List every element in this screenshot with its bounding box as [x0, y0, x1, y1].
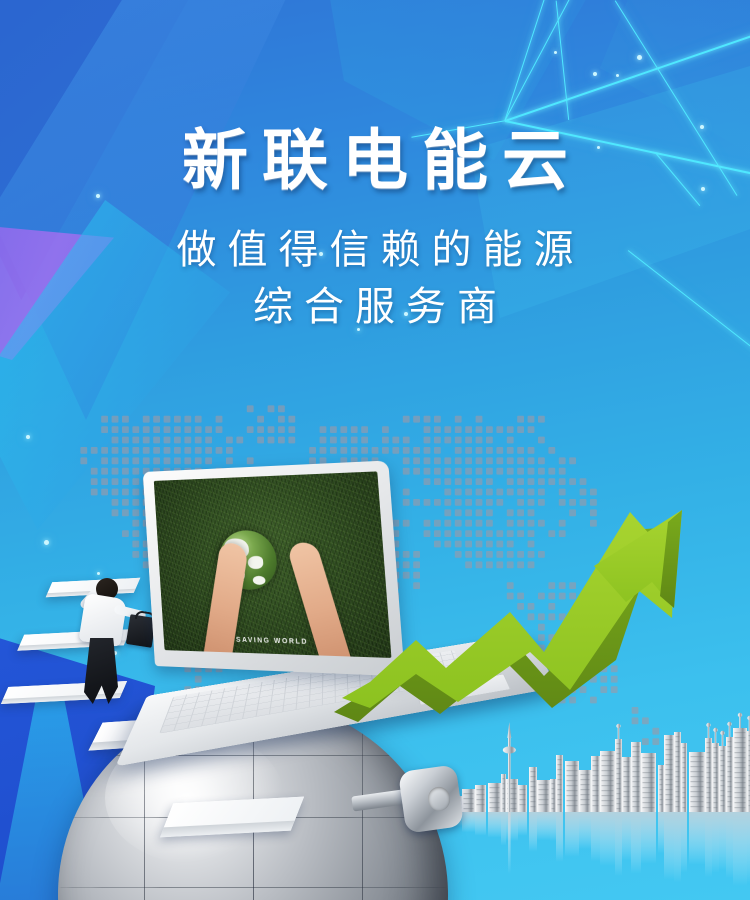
businessman-legs	[84, 638, 118, 704]
key-bow	[398, 764, 464, 833]
key-hole	[426, 785, 451, 812]
key-icon	[352, 766, 460, 840]
subtitle-block: 做值得信赖的能源 综合服务商	[0, 222, 750, 336]
subtitle-line-2: 综合服务商	[0, 279, 750, 336]
promo-poster: 新联电能云 做值得信赖的能源 综合服务商	[0, 0, 750, 900]
growth-arrow-icon	[330, 500, 700, 730]
title-block: 新联电能云 做值得信赖的能源 综合服务商	[0, 128, 750, 336]
subtitle-line-1: 做值得信赖的能源	[0, 222, 750, 279]
page-title: 新联电能云	[0, 128, 750, 194]
